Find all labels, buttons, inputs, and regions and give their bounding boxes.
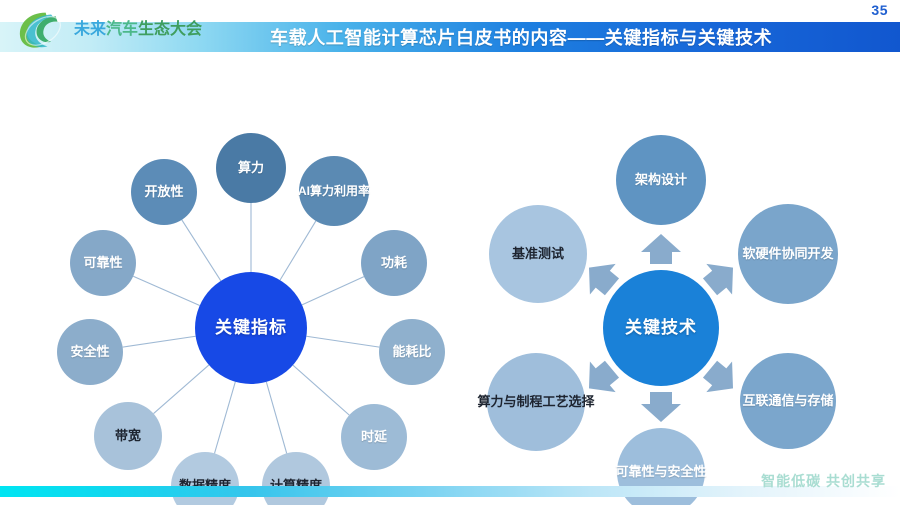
brand-name-part2: 汽车	[106, 21, 138, 38]
key-metrics-hub-label: 关键指标	[211, 318, 291, 338]
tech-node-5[interactable]: 基准测试	[489, 205, 587, 303]
arrow-lower-left-icon	[589, 361, 619, 392]
metric-node-9[interactable]: 可靠性	[70, 230, 136, 296]
metric-node-8[interactable]: 安全性	[57, 319, 123, 385]
arrow-upper-left-icon	[589, 264, 619, 295]
tech-node-label: 可靠性与安全性	[612, 464, 711, 479]
tech-node-label: 算力与制程工艺选择	[474, 394, 599, 409]
tech-node-2[interactable]: 互联通信与存储	[740, 353, 836, 449]
connector-line-7	[154, 365, 209, 414]
arrow-upper-right-icon	[703, 264, 733, 295]
connector-line-4	[293, 365, 349, 415]
slide-root: 35 车载人工智能计算芯片白皮书的内容——关键指标与关键技术 未来汽车生态大会 …	[0, 0, 900, 505]
metric-node-2[interactable]: 功耗	[361, 230, 427, 296]
footer-slogan: 智能低碳 共创共享	[761, 471, 886, 491]
metric-node-3[interactable]: 能耗比	[379, 319, 445, 385]
connector-line-10	[182, 220, 221, 281]
brand-name-part1: 未来	[74, 21, 106, 38]
tech-node-label: 基准测试	[508, 246, 568, 261]
tech-node-label: 软硬件协同开发	[738, 246, 837, 261]
metric-node-label: 带宽	[111, 428, 145, 443]
tech-node-label: 架构设计	[631, 172, 691, 187]
green-swoosh-logo-icon	[14, 9, 70, 51]
metric-node-label: 功耗	[377, 255, 411, 270]
key-metrics-hub[interactable]: 关键指标	[195, 272, 307, 384]
arrow-up-icon	[641, 234, 681, 264]
page-title: 车载人工智能计算芯片白皮书的内容——关键指标与关键技术	[270, 22, 772, 52]
tech-node-1[interactable]: 软硬件协同开发	[738, 204, 838, 304]
brand-name-part3: 生态大会	[138, 21, 202, 38]
arrow-lower-right-icon	[703, 361, 733, 392]
connector-line-3	[306, 336, 379, 347]
metric-node-label: 算力	[234, 160, 268, 175]
metric-node-label: 时延	[357, 429, 391, 444]
metric-node-label: 能耗比	[388, 344, 435, 359]
diagram-canvas: 算力AI算力利用率功耗能耗比时延计算精度数据精度带宽安全性可靠性开放性关键指标 …	[0, 58, 900, 478]
metric-node-7[interactable]: 带宽	[94, 402, 162, 470]
tech-node-4[interactable]: 算力与制程工艺选择	[487, 353, 585, 451]
brand-logo: 未来汽车生态大会	[14, 8, 264, 52]
metric-node-label: 开放性	[140, 184, 187, 199]
metric-node-label: AI算力利用率	[294, 184, 374, 198]
metric-node-1[interactable]: AI算力利用率	[299, 156, 369, 226]
connector-line-9	[133, 276, 200, 305]
tech-node-label: 互联通信与存储	[739, 393, 838, 408]
brand-name: 未来汽车生态大会	[74, 22, 202, 38]
arrow-down-icon	[641, 392, 681, 422]
tech-node-0[interactable]: 架构设计	[616, 135, 706, 225]
key-technology-hub-label: 关键技术	[621, 318, 701, 338]
page-number: 35	[871, 2, 888, 18]
key-technology-hub[interactable]: 关键技术	[603, 270, 719, 386]
metric-node-10[interactable]: 开放性	[131, 159, 197, 225]
connector-line-6	[215, 382, 236, 454]
metric-node-label: 安全性	[66, 344, 113, 359]
connector-line-5	[266, 382, 286, 453]
connector-line-8	[123, 336, 196, 347]
metric-node-4[interactable]: 时延	[341, 404, 407, 470]
connector-line-2	[302, 277, 364, 305]
metric-node-label: 可靠性	[79, 255, 126, 270]
metric-node-0[interactable]: 算力	[216, 133, 286, 203]
connector-line-1	[280, 221, 316, 280]
